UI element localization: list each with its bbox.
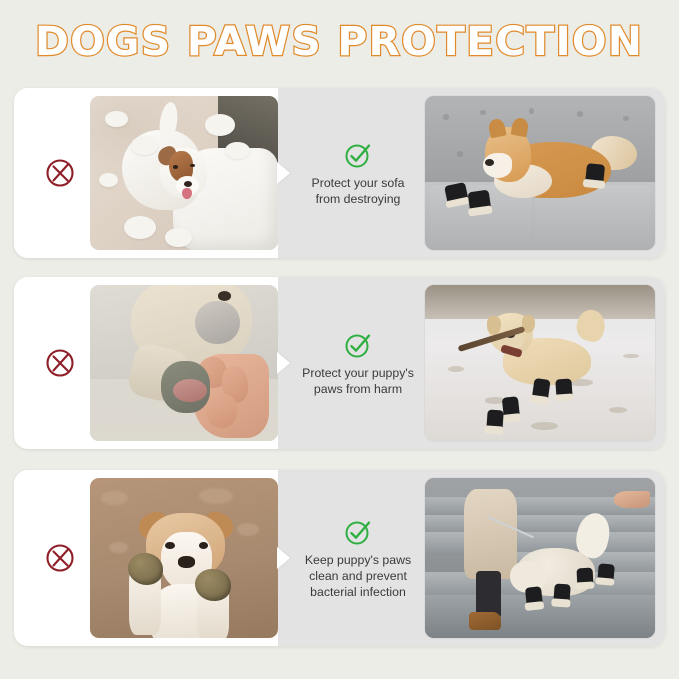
- chevron-right-arrow: [277, 352, 290, 374]
- benefit-panel-1: Protect your sofa from destroying: [14, 88, 665, 258]
- panel-1-message-text: Protect your sofa from destroying: [312, 175, 405, 207]
- panel-2-message-text: Protect your puppy's paws from harm: [302, 365, 414, 397]
- panel-2-problem-side: [14, 277, 278, 449]
- benefit-panel-3: Keep puppy's paws clean and prevent bact…: [14, 470, 665, 646]
- circle-check-icon: [343, 140, 373, 170]
- page-title: DOGS PAWS PROTECTION: [35, 19, 643, 65]
- page-title-container: DOGS PAWS PROTECTION: [0, 19, 679, 71]
- chevron-right-arrow: [277, 162, 290, 184]
- labrador-in-snow-photo: [425, 285, 655, 441]
- product-infographic: DOGS PAWS PROTECTION: [0, 0, 679, 679]
- panel-3-problem-side: [14, 470, 278, 646]
- panel-2-message: Protect your puppy's paws from harm: [295, 277, 421, 449]
- dog-on-wet-stairs-photo: [425, 478, 655, 638]
- chevron-right-arrow: [277, 547, 290, 569]
- shiba-inu-on-sofa-photo: [425, 96, 655, 250]
- panel-1-problem-side: [14, 88, 278, 258]
- panel-3-message: Keep puppy's paws clean and prevent bact…: [295, 470, 421, 646]
- circle-check-icon: [343, 330, 373, 360]
- dog-on-shredded-pillow-photo: [90, 96, 278, 250]
- injured-paw-in-hand-photo: [90, 285, 278, 441]
- circle-x-icon: [43, 541, 77, 575]
- circle-x-icon: [43, 346, 77, 380]
- panel-1-message: Protect your sofa from destroying: [295, 88, 421, 258]
- circle-check-icon: [343, 517, 373, 547]
- benefit-panel-2: Protect your puppy's paws from harm: [14, 277, 665, 449]
- panel-3-message-text: Keep puppy's paws clean and prevent bact…: [305, 552, 411, 600]
- circle-x-icon: [43, 156, 77, 190]
- muddy-paws-dog-photo: [90, 478, 278, 638]
